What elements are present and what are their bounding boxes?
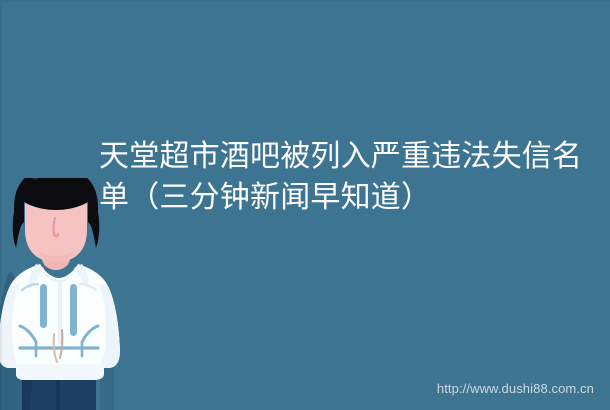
neck xyxy=(42,230,70,270)
page-title: 天堂超市酒吧被列入严重违法失信名单（三分钟新闻早知道） xyxy=(99,136,599,218)
hoodie-pocket xyxy=(20,326,98,362)
pants xyxy=(22,354,96,410)
hoodie-drawstrings xyxy=(40,284,77,336)
news-card: 天堂超市酒吧被列入严重违法失信名单（三分钟新闻早知道） http://www.d… xyxy=(0,0,610,410)
source-watermark: http://www.dushi88.com.cn xyxy=(437,381,594,397)
face xyxy=(25,178,87,264)
hoodie xyxy=(0,262,120,380)
figure-shadow xyxy=(0,272,114,410)
hair xyxy=(13,166,100,248)
